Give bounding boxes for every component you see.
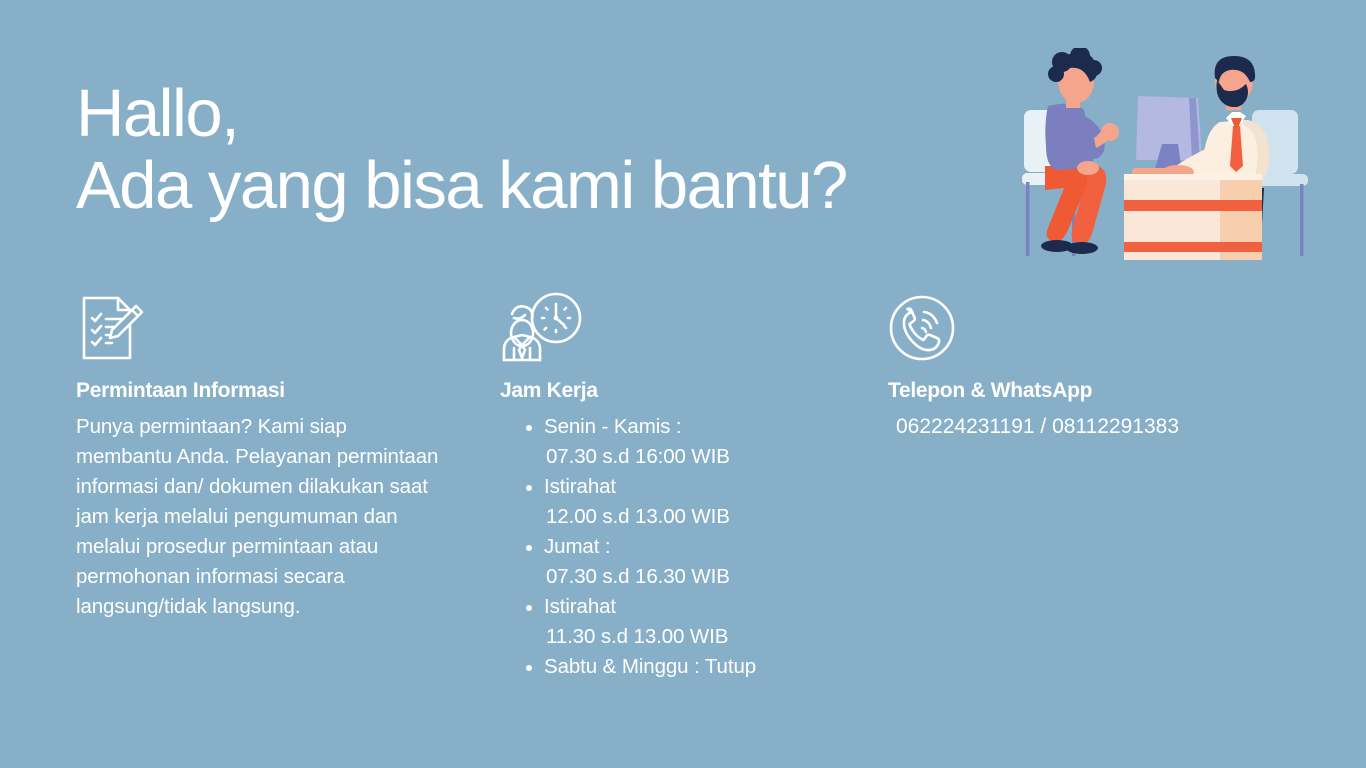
reception-desk <box>1124 174 1262 260</box>
column-jam-kerja: Jam Kerja Senin - Kamis : 07.30 s.d 16:0… <box>500 292 860 682</box>
list-item: Jumat : 07.30 s.d 16.30 WIB <box>500 532 860 592</box>
section-title-telepon-whatsapp: Telepon & WhatsApp <box>888 378 1288 404</box>
section-title-jam-kerja: Jam Kerja <box>500 378 860 404</box>
column-permintaan-informasi: Permintaan Informasi Punya permintaan? K… <box>76 292 446 622</box>
list-item: Istirahat 11.30 s.d 13.00 WIB <box>500 592 860 652</box>
hours-label: Jumat : <box>544 535 611 558</box>
person-clock-icon <box>500 292 860 364</box>
woman-figure <box>1041 48 1119 254</box>
hours-label: Istirahat <box>544 595 616 618</box>
hours-value: 07.30 s.d 16:00 WIB <box>544 442 860 472</box>
page-title: Hallo, Ada yang bisa kami bantu? <box>76 78 847 222</box>
headline-line-1: Hallo, <box>76 78 847 150</box>
hours-value: 07.30 s.d 16.30 WIB <box>544 562 860 592</box>
hours-value: 11.30 s.d 13.00 WIB <box>544 622 860 652</box>
permintaan-informasi-body: Punya permintaan? Kami siap membantu And… <box>76 412 446 622</box>
hours-label: Istirahat <box>544 475 616 498</box>
list-item: Senin - Kamis : 07.30 s.d 16:00 WIB <box>500 412 860 472</box>
headline-line-2: Ada yang bisa kami bantu? <box>76 150 847 222</box>
section-title-permintaan-informasi: Permintaan Informasi <box>76 378 446 404</box>
list-item: Sabtu & Minggu : Tutup <box>500 652 860 682</box>
column-telepon-whatsapp: Telepon & WhatsApp 062224231191 / 081122… <box>888 292 1288 442</box>
document-checklist-pencil-icon <box>76 292 446 364</box>
working-hours-list: Senin - Kamis : 07.30 s.d 16:00 WIB Isti… <box>500 412 860 682</box>
contact-info-slide: Hallo, Ada yang bisa kami bantu? <box>0 0 1366 768</box>
phone-numbers[interactable]: 062224231191 / 08112291383 <box>888 412 1288 442</box>
phone-ringing-circle-icon <box>888 292 1288 364</box>
service-desk-illustration <box>1012 48 1312 280</box>
hours-label: Sabtu & Minggu : Tutup <box>544 655 756 678</box>
hours-label: Senin - Kamis : <box>544 415 682 438</box>
hours-value: 12.00 s.d 13.00 WIB <box>544 502 860 532</box>
list-item: Istirahat 12.00 s.d 13.00 WIB <box>500 472 860 532</box>
